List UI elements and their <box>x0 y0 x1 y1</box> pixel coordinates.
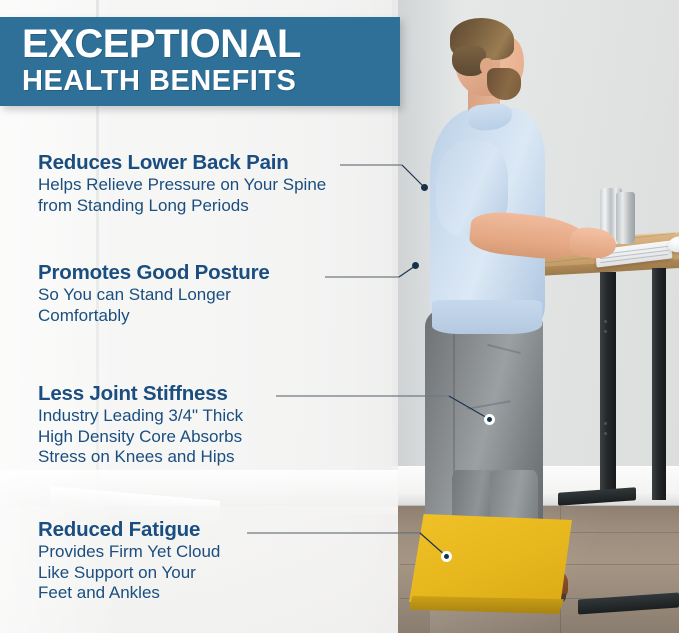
benefit-block-reduces-lower-back-pain: Reduces Lower Back Pain Helps Relieve Pr… <box>38 150 326 216</box>
benefit-body-line: Helps Relieve Pressure on Your Spine <box>38 175 326 196</box>
benefit-title: Promotes Good Posture <box>38 260 270 285</box>
benefit-block-reduced-fatigue: Reduced Fatigue Provides Firm Yet Cloud … <box>38 517 220 604</box>
callout-dot-upper-back <box>421 184 428 191</box>
benefit-body-line: High Density Core Absorbs <box>38 427 243 448</box>
banner-title-line1: EXCEPTIONAL <box>22 23 400 65</box>
benefit-title: Reduces Lower Back Pain <box>38 150 326 175</box>
callout-dot-mat <box>441 551 452 562</box>
banner-title-line2: HEALTH BENEFITS <box>22 65 400 97</box>
benefit-body-line: So You can Stand Longer <box>38 285 270 306</box>
infographic-root: EXCEPTIONAL HEALTH BENEFITS Reduces Lowe… <box>0 0 679 633</box>
benefit-body-line: Comfortably <box>38 306 270 327</box>
benefit-body-line: Provides Firm Yet Cloud <box>38 542 220 563</box>
benefit-body-line: from Standing Long Periods <box>38 196 326 217</box>
benefit-title: Less Joint Stiffness <box>38 381 243 406</box>
benefit-block-less-joint-stiffness: Less Joint Stiffness Industry Leading 3/… <box>38 381 243 468</box>
benefit-body-line: Like Support on Your <box>38 563 220 584</box>
benefit-body-line: Feet and Ankles <box>38 583 220 604</box>
benefit-body-line: Stress on Knees and Hips <box>38 447 243 468</box>
callout-dot-knee <box>484 414 495 425</box>
benefit-block-promotes-good-posture: Promotes Good Posture So You can Stand L… <box>38 260 270 326</box>
header-banner: EXCEPTIONAL HEALTH BENEFITS <box>0 17 400 106</box>
benefit-body-line: Industry Leading 3/4" Thick <box>38 406 243 427</box>
callout-dot-lower-back <box>412 262 419 269</box>
benefit-title: Reduced Fatigue <box>38 517 220 542</box>
